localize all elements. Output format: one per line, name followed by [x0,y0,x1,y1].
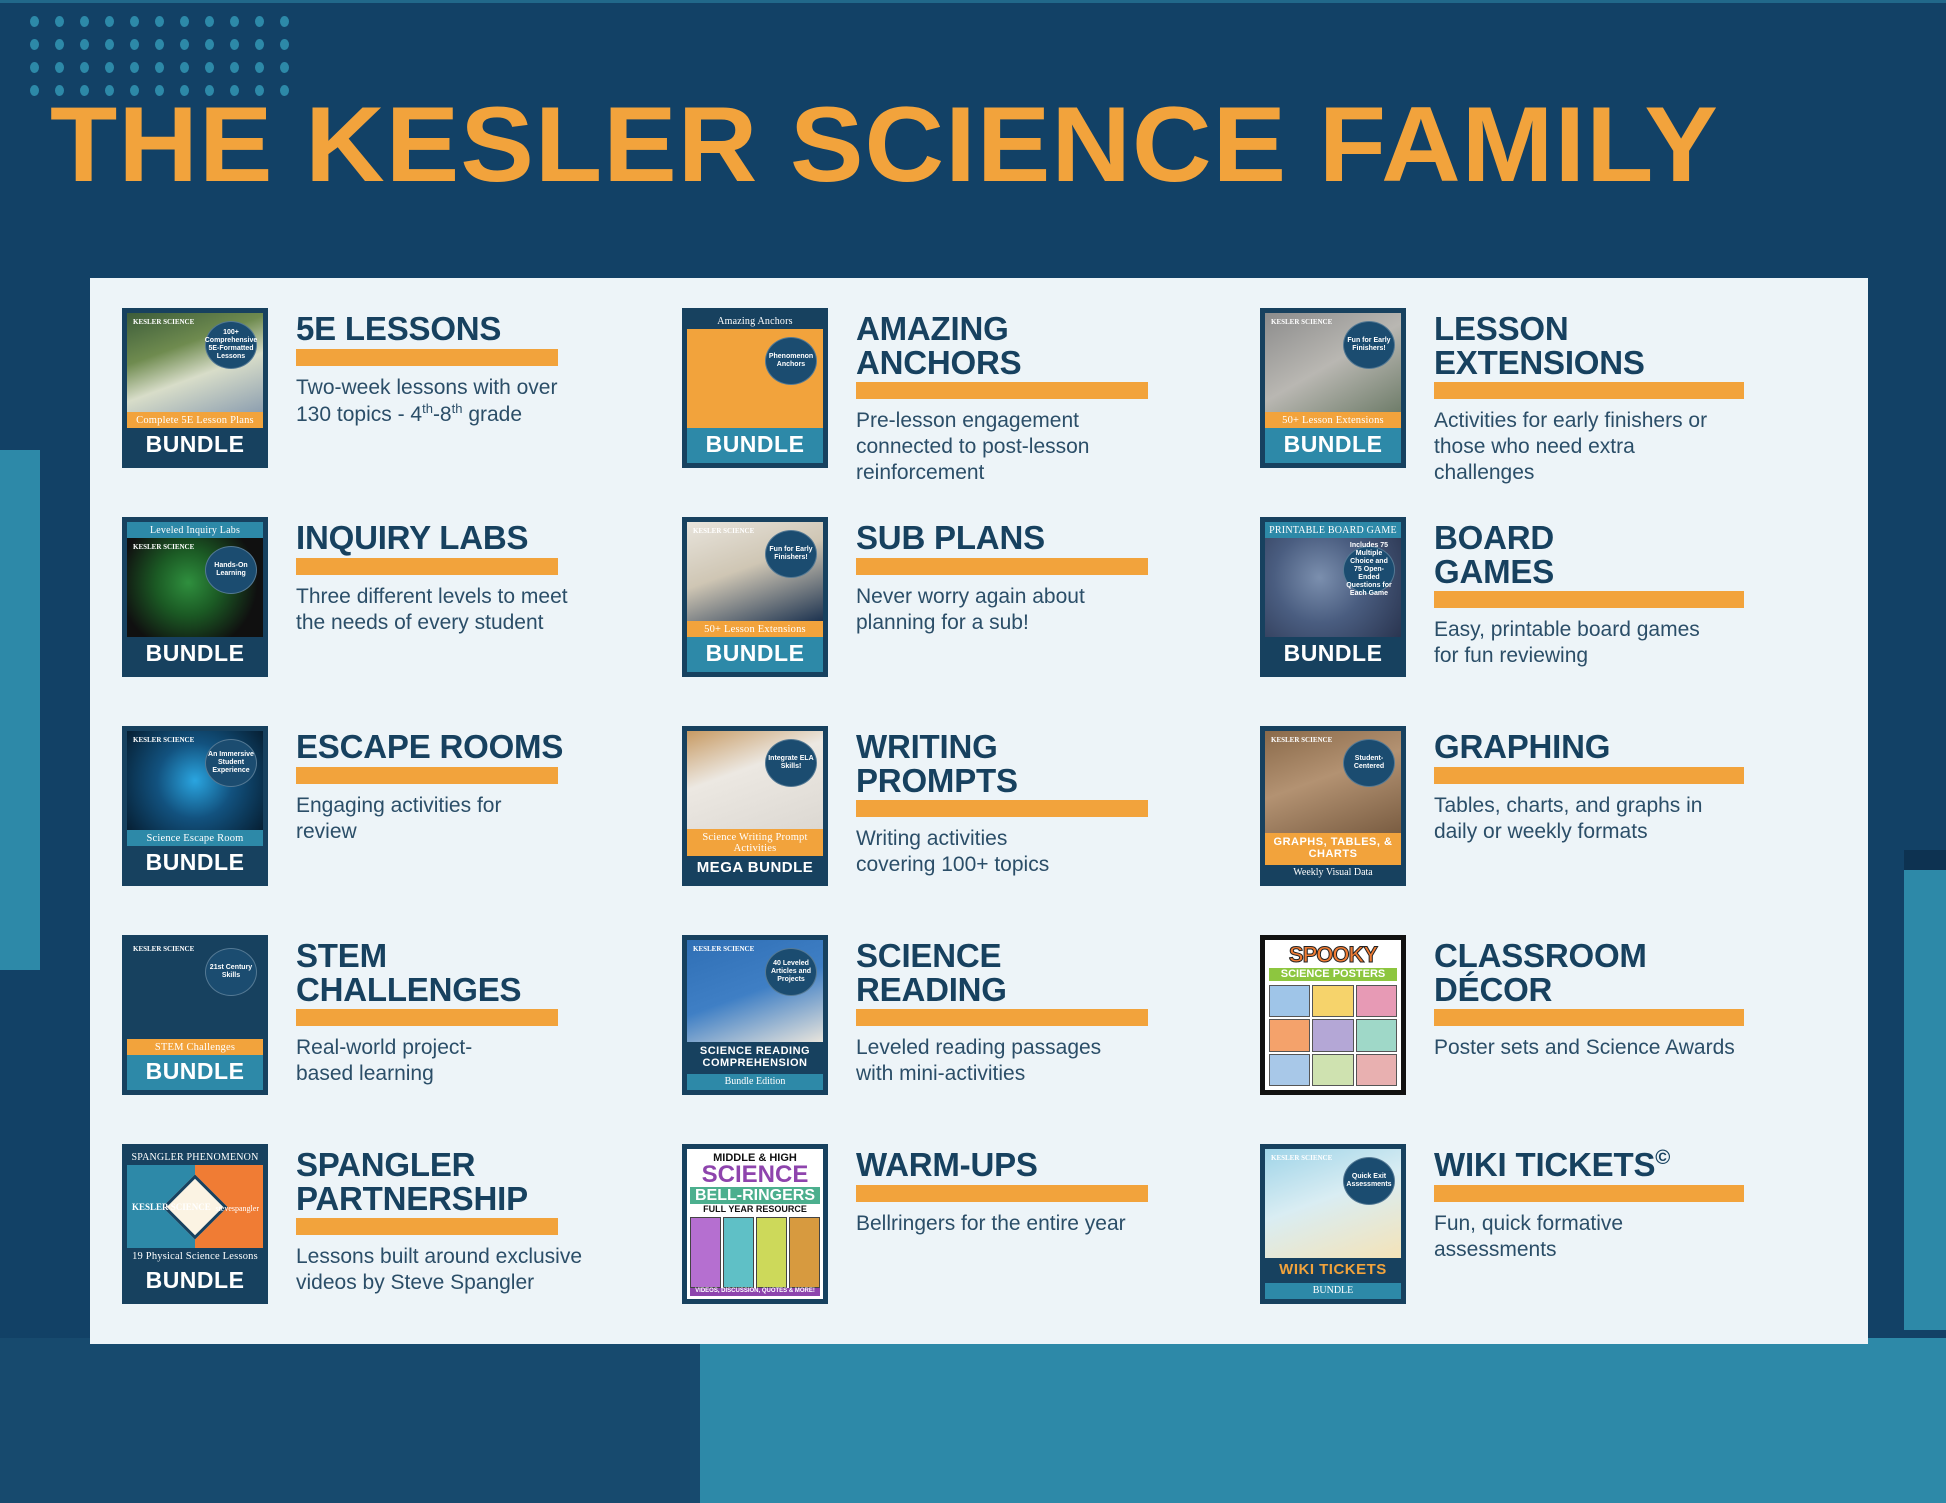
product-info: WARM-UPSBellringers for the entire year [828,1144,1260,1237]
bellringer-tile [690,1217,721,1288]
thumbnail-badge: Integrate ELA Skills! [765,739,817,787]
poster-thumbnail-grid [1269,985,1397,1086]
poster-tile [1269,985,1310,1017]
kesler-science-logo: KESLER SCIENCE [133,737,194,744]
thumbnail-badge: 100+ Comprehensive 5E-Formatted Lessons [205,321,257,369]
thumbnail-bundle-label: SCIENCE READING COMPREHENSION [687,1042,823,1074]
product-title: BOARDGAMES [1434,521,1838,588]
decorative-dot [255,62,264,73]
poster-line-4: FULL YEAR RESOURCE [690,1204,820,1215]
thumbnail-badge: 21st Century Skills [205,948,257,996]
thumbnail-artwork: KESLER SCIENCEstevespangler [127,1165,263,1248]
poster-tile [1356,1054,1397,1086]
product-info: SUB PLANSNever worry again aboutplanning… [828,517,1260,636]
orange-divider-rule [856,1185,1148,1202]
decorative-dot [180,39,189,50]
thumbnail-badge: Student-Centered [1343,739,1395,787]
thumbnail-bundle-label: GRAPHS, TABLES, & CHARTS [1265,833,1401,865]
left-edge-teal-accent [0,450,40,970]
product-card-board-games[interactable]: PRINTABLE BOARD GAMEIncludes 75 Multiple… [1260,517,1838,726]
product-description: Real-world project-based learning [296,1035,682,1087]
right-edge-teal-accent [1904,870,1946,1330]
product-info: SCIENCEREADINGLeveled reading passageswi… [828,935,1260,1087]
product-card-inquiry-labs[interactable]: Leveled Inquiry LabsKESLER SCIENCEHands-… [122,517,682,726]
product-thumbnail: KESLER SCIENCEStudent-CenteredGRAPHS, TA… [1260,726,1406,886]
decorative-dot [105,62,114,73]
product-description: Engaging activities forreview [296,793,682,845]
product-description: Easy, printable board gamesfor fun revie… [1434,617,1838,669]
kesler-science-logo: KESLER SCIENCE [133,319,194,326]
product-card-warm-ups[interactable]: MIDDLE & HIGHSCIENCEBELL-RINGERSFULL YEA… [682,1144,1260,1353]
product-title: GRAPHING [1434,730,1838,764]
thumbnail-sub-label: Weekly Visual Data [1265,865,1401,881]
orange-divider-rule [1434,767,1744,784]
poster-subtitle: SCIENCE POSTERS [1269,968,1397,981]
thumbnail-artwork: KESLER SCIENCEStudent-Centered [1265,731,1401,833]
bellringer-poster-preview: MIDDLE & HIGHSCIENCEBELL-RINGERSFULL YEA… [687,1149,823,1299]
product-title: WARM-UPS [856,1148,1260,1182]
decorative-dot [130,39,139,50]
product-title: SCIENCEREADING [856,939,1260,1006]
decorative-dot [255,16,264,27]
decorative-dot [55,16,64,27]
decorative-dot [80,62,89,73]
product-card-lesson-extensions[interactable]: KESLER SCIENCEFun for Early Finishers!50… [1260,308,1838,517]
thumbnail-top-tag: PRINTABLE BOARD GAME [1265,522,1401,538]
product-description: Activities for early finishers orthose w… [1434,408,1838,486]
product-card-amazing-anchors[interactable]: Amazing AnchorsPhenomenon AnchorsBUNDLEA… [682,308,1260,517]
product-thumbnail: Integrate ELA Skills!Science Writing Pro… [682,726,828,886]
product-thumbnail: KESLER SCIENCEFun for Early Finishers!50… [682,517,828,677]
decorative-dot [30,62,39,73]
product-title: 5E LESSONS [296,312,682,346]
thumbnail-strip-label: 50+ Lesson Extensions [1265,412,1401,428]
poster-tile [1356,1019,1397,1051]
decorative-dot [230,16,239,27]
thumbnail-artwork: SPOOKYSCIENCE POSTERS [1265,940,1401,1090]
thumbnail-artwork: KESLER SCIENCE21st Century Skills [127,940,263,1039]
thumbnail-artwork: Includes 75 Multiple Choice and 75 Open-… [1265,538,1401,637]
product-title: AMAZINGANCHORS [856,312,1260,379]
thumbnail-badge: Fun for Early Finishers! [1343,321,1395,369]
thumbnail-bundle-label: BUNDLE [687,637,823,672]
product-description: Lessons built around exclusivevideos by … [296,1244,682,1296]
decorative-dot [205,16,214,27]
bellringer-tile [723,1217,754,1288]
decorative-dot [205,39,214,50]
decorative-dot [30,39,39,50]
page-title: THE KESLER SCIENCE FAMILY [50,88,1946,200]
kesler-science-logo: KESLER SCIENCE [693,528,754,535]
thumbnail-bundle-label: BUNDLE [1265,637,1401,672]
thumbnail-artwork: KESLER SCIENCEFun for Early Finishers! [687,522,823,621]
product-info: WIKI TICKETS©Fun, quick formativeassessm… [1406,1144,1838,1263]
product-title: LESSONEXTENSIONS [1434,312,1838,379]
orange-divider-rule [1434,1009,1744,1026]
poster-title: SPOOKY [1269,944,1397,966]
decorative-dot [130,62,139,73]
thumbnail-bundle-label: WIKI TICKETS [1265,1258,1401,1283]
decorative-dot [130,16,139,27]
product-description: Writing activitiescovering 100+ topics [856,826,1260,878]
orange-divider-rule [1434,1185,1744,1202]
decorative-dot [55,39,64,50]
poster-tile [1269,1054,1310,1086]
product-title: SPANGLERPARTNERSHIP [296,1148,682,1215]
product-card-graphing[interactable]: KESLER SCIENCEStudent-CenteredGRAPHS, TA… [1260,726,1838,935]
thumbnail-bundle-label: BUNDLE [687,428,823,463]
kesler-science-logo: KESLER SCIENCE [1271,1155,1332,1162]
product-title: INQUIRY LABS [296,521,682,555]
product-title: STEMCHALLENGES [296,939,682,1006]
product-info: ESCAPE ROOMSEngaging activities forrevie… [268,726,682,845]
thumbnail-artwork: Integrate ELA Skills! [687,731,823,829]
decorative-dot [180,16,189,27]
bottom-teal-band [700,1338,1946,1503]
product-thumbnail: KESLER SCIENCE100+ Comprehensive 5E-Form… [122,308,268,468]
poster-footer: VIDEOS, DISCUSSION, QUOTES & MORE! [690,1288,820,1296]
product-title: SUB PLANS [856,521,1260,555]
thumbnail-strip-label: Complete 5E Lesson Plans [127,412,263,428]
top-hairline [0,0,1946,3]
product-thumbnail: MIDDLE & HIGHSCIENCEBELL-RINGERSFULL YEA… [682,1144,828,1304]
orange-divider-rule [856,558,1148,575]
decorative-dot [80,39,89,50]
thumbnail-bundle-label: BUNDLE [127,637,263,672]
thumbnail-top-tag: Amazing Anchors [687,313,823,329]
decorative-dot [155,62,164,73]
thumbnail-top-tag: Leveled Inquiry Labs [127,522,263,538]
thumbnail-badge: An Immersive Student Experience [205,739,257,787]
product-description: Pre-lesson engagementconnected to post-l… [856,408,1260,486]
orange-divider-rule [1434,382,1744,399]
product-description: Fun, quick formativeassessments [1434,1211,1838,1263]
thumbnail-strip-label: STEM Challenges [127,1039,263,1055]
product-title: CLASSROOMDÉCOR [1434,939,1838,1006]
steve-spangler-logo: stevespangler [215,1205,259,1213]
product-card-science-reading[interactable]: KESLER SCIENCE40 Leveled Articles and Pr… [682,935,1260,1144]
kesler-science-logo: KESLER SCIENCE [132,1203,211,1212]
product-description: Leveled reading passageswith mini-activi… [856,1035,1260,1087]
decorative-dot [230,39,239,50]
thumbnail-badge: 40 Leveled Articles and Projects [765,948,817,996]
thumbnail-badge: Includes 75 Multiple Choice and 75 Open-… [1343,546,1395,594]
orange-divider-rule [296,1009,558,1026]
thumbnail-artwork: KESLER SCIENCEQuick Exit Assessments [1265,1149,1401,1258]
bottom-dark-band [0,1338,700,1503]
bellringer-tile-grid [690,1217,820,1288]
product-info: 5E LESSONSTwo-week lessons with over130 … [268,308,682,428]
product-card-wiki-tickets[interactable]: KESLER SCIENCEQuick Exit AssessmentsWIKI… [1260,1144,1838,1353]
thumbnail-badge: Fun for Early Finishers! [765,530,817,578]
product-card-writing-prompts[interactable]: Integrate ELA Skills!Science Writing Pro… [682,726,1260,935]
thumbnail-strip-label: Science Escape Room [127,830,263,846]
product-info: STEMCHALLENGESReal-world project-based l… [268,935,682,1087]
product-info: SPANGLERPARTNERSHIPLessons built around … [268,1144,682,1296]
decorative-dot [180,62,189,73]
thumbnail-artwork: MIDDLE & HIGHSCIENCEBELL-RINGERSFULL YEA… [687,1149,823,1299]
thumbnail-badge: Hands-On Learning [205,546,257,594]
orange-divider-rule [296,558,558,575]
product-thumbnail: Leveled Inquiry LabsKESLER SCIENCEHands-… [122,517,268,677]
poster-tile [1312,1019,1353,1051]
product-thumbnail: KESLER SCIENCE40 Leveled Articles and Pr… [682,935,828,1095]
decorative-dot [155,39,164,50]
decorative-dot [280,62,289,73]
product-description: Never worry again aboutplanning for a su… [856,584,1260,636]
bellringer-tile [756,1217,787,1288]
product-title: WRITINGPROMPTS [856,730,1260,797]
product-description: Poster sets and Science Awards [1434,1035,1838,1061]
thumbnail-bundle-label: BUNDLE [1265,428,1401,463]
thumbnail-strip-label: Science Writing Prompt Activities [687,829,823,856]
product-thumbnail: Amazing AnchorsPhenomenon AnchorsBUNDLE [682,308,828,468]
poster-line-3: BELL-RINGERS [690,1187,820,1205]
product-title: ESCAPE ROOMS [296,730,682,764]
thumbnail-strip-label: 19 Physical Science Lessons [127,1248,263,1264]
product-card-stem-challenges[interactable]: KESLER SCIENCE21st Century SkillsSTEM Ch… [122,935,682,1144]
decorative-dot [105,16,114,27]
thumbnail-artwork: KESLER SCIENCEHands-On Learning [127,538,263,637]
thumbnail-badge: Quick Exit Assessments [1343,1157,1395,1205]
orange-divider-rule [296,1218,558,1235]
product-thumbnail: KESLER SCIENCE21st Century SkillsSTEM Ch… [122,935,268,1095]
product-card-escape-rooms[interactable]: KESLER SCIENCEAn Immersive Student Exper… [122,726,682,935]
product-grid: KESLER SCIENCE100+ Comprehensive 5E-Form… [122,308,1838,1353]
thumbnail-top-tag: SPANGLER PHENOMENON [127,1149,263,1165]
thumbnail-bundle-label: BUNDLE [127,1055,263,1090]
product-description: Tables, charts, and graphs indaily or we… [1434,793,1838,845]
product-card-5e-lessons[interactable]: KESLER SCIENCE100+ Comprehensive 5E-Form… [122,308,682,517]
product-info: INQUIRY LABSThree different levels to me… [268,517,682,636]
product-info: WRITINGPROMPTSWriting activitiescovering… [828,726,1260,878]
kesler-science-logo: KESLER SCIENCE [133,544,194,551]
product-info: GRAPHINGTables, charts, and graphs indai… [1406,726,1838,845]
product-info: BOARDGAMESEasy, printable board gamesfor… [1406,517,1838,669]
orange-divider-rule [856,1009,1148,1026]
content-panel: KESLER SCIENCE100+ Comprehensive 5E-Form… [90,278,1868,1344]
product-thumbnail: KESLER SCIENCEAn Immersive Student Exper… [122,726,268,886]
thumbnail-artwork: KESLER SCIENCEAn Immersive Student Exper… [127,731,263,830]
slide-root: THE KESLER SCIENCE FAMILY KESLER SCIENCE… [0,0,1946,1503]
product-thumbnail: KESLER SCIENCEFun for Early Finishers!50… [1260,308,1406,468]
product-title: WIKI TICKETS© [1434,1148,1838,1182]
decorative-dot [280,16,289,27]
decorative-dot [230,62,239,73]
product-info: LESSONEXTENSIONSActivities for early fin… [1406,308,1838,486]
kesler-science-logo: KESLER SCIENCE [133,946,194,953]
poster-tile [1356,985,1397,1017]
thumbnail-bundle-label: BUNDLE [127,428,263,463]
thumbnail-artwork: KESLER SCIENCE40 Leveled Articles and Pr… [687,940,823,1042]
product-card-classroom-d-cor[interactable]: SPOOKYSCIENCE POSTERSCLASSROOMDÉCORPoste… [1260,935,1838,1144]
thumbnail-sub-label: BUNDLE [1265,1283,1401,1299]
decorative-dot [30,16,39,27]
bellringer-tile [789,1217,820,1288]
poster-tile [1269,1019,1310,1051]
orange-divider-rule [856,800,1148,817]
product-info: AMAZINGANCHORSPre-lesson engagementconne… [828,308,1260,486]
kesler-science-logo: KESLER SCIENCE [1271,319,1332,326]
thumbnail-bundle-label: BUNDLE [127,1264,263,1299]
decorative-dot [80,16,89,27]
kesler-science-logo: KESLER SCIENCE [693,946,754,953]
product-info: CLASSROOMDÉCORPoster sets and Science Aw… [1406,935,1838,1061]
poster-line-2: SCIENCE [690,1164,820,1187]
decorative-dot [55,62,64,73]
thumbnail-sub-label: Bundle Edition [687,1074,823,1090]
product-thumbnail: SPOOKYSCIENCE POSTERS [1260,935,1406,1095]
thumbnail-strip-label: 50+ Lesson Extensions [687,621,823,637]
decorative-dot [155,16,164,27]
product-card-sub-plans[interactable]: KESLER SCIENCEFun for Early Finishers!50… [682,517,1260,726]
decorative-dot [30,85,39,96]
product-description: Two-week lessons with over130 topics - 4… [296,375,682,428]
thumbnail-bundle-label: MEGA BUNDLE [687,856,823,881]
decorative-dot [280,39,289,50]
orange-divider-rule [296,767,558,784]
kesler-science-logo: KESLER SCIENCE [1271,737,1332,744]
orange-divider-rule [1434,591,1744,608]
thumbnail-artwork: Phenomenon Anchors [687,329,823,428]
poster-preview: SPOOKYSCIENCE POSTERS [1265,940,1401,1090]
orange-divider-rule [296,349,558,366]
product-description: Bellringers for the entire year [856,1211,1260,1237]
product-description: Three different levels to meetthe needs … [296,584,682,636]
product-thumbnail: KESLER SCIENCEQuick Exit AssessmentsWIKI… [1260,1144,1406,1304]
orange-divider-rule [856,382,1148,399]
decorative-dot [255,39,264,50]
product-card-spangler-partnership[interactable]: SPANGLER PHENOMENONKESLER SCIENCEstevesp… [122,1144,682,1353]
decorative-dot [205,62,214,73]
thumbnail-artwork: KESLER SCIENCEFun for Early Finishers! [1265,313,1401,412]
thumbnail-artwork: KESLER SCIENCE100+ Comprehensive 5E-Form… [127,313,263,412]
thumbnail-badge: Phenomenon Anchors [765,337,817,385]
poster-tile [1312,1054,1353,1086]
product-thumbnail: SPANGLER PHENOMENONKESLER SCIENCEstevesp… [122,1144,268,1304]
thumbnail-bundle-label: BUNDLE [127,846,263,881]
decorative-dot [105,39,114,50]
poster-tile [1312,985,1353,1017]
product-thumbnail: PRINTABLE BOARD GAMEIncludes 75 Multiple… [1260,517,1406,677]
